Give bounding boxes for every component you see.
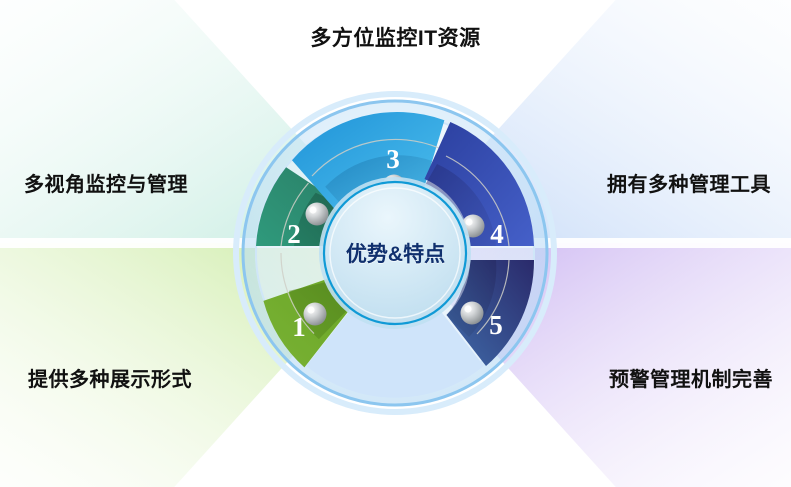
segment-1-marker xyxy=(304,303,327,326)
segment-5-number: 5 xyxy=(489,310,503,340)
segment-2-marker xyxy=(306,203,329,226)
segment-4-number: 4 xyxy=(490,219,504,249)
slide-canvas: 1 2 3 xyxy=(0,0,791,487)
label-left-top: 多视角监控与管理 xyxy=(24,168,188,197)
segment-5-marker xyxy=(461,302,484,325)
segment-3-number: 3 xyxy=(386,144,400,174)
center-label: 优势&特点 xyxy=(346,238,445,268)
label-right-bottom: 预警管理机制完善 xyxy=(609,363,773,392)
label-left-bottom: 提供多种展示形式 xyxy=(28,363,192,392)
label-right-top: 拥有多种管理工具 xyxy=(607,168,771,197)
segment-1-number: 1 xyxy=(292,312,306,342)
title-label: 多方位监控IT资源 xyxy=(0,22,791,52)
segment-2-number: 2 xyxy=(287,219,301,249)
